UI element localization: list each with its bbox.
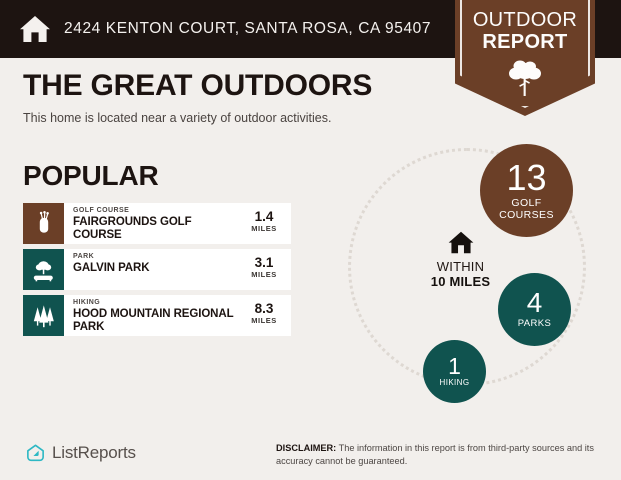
listreports-logo[interactable]: ListReports	[24, 442, 136, 464]
disclaimer: DISCLAIMER: The information in this repo…	[276, 442, 606, 469]
title-block: THE GREAT OUTDOORS This home is located …	[23, 70, 443, 125]
pine-trees-icon	[23, 295, 64, 336]
page-title: THE GREAT OUTDOORS	[23, 70, 443, 102]
distance-value: 3.1	[237, 256, 291, 270]
radius-label: 10 MILES	[408, 275, 513, 290]
park-tree-bench-icon	[23, 249, 64, 290]
parks-label: PARKS	[518, 319, 552, 330]
stat-bubble-hiking: 1 HIKING	[423, 340, 486, 403]
popular-heading: POPULAR	[23, 160, 159, 192]
parks-count: 4	[527, 289, 543, 317]
tree-icon	[455, 58, 595, 98]
distance-unit: MILES	[237, 316, 291, 325]
distance-value: 8.3	[237, 302, 291, 316]
property-address: 2424 KENTON COURT, SANTA ROSA, CA 95407	[64, 20, 431, 38]
diagram-center-label: WITHIN 10 MILES	[408, 230, 513, 290]
badge-title-line1: OUTDOOR	[455, 10, 595, 32]
outdoor-report-badge: OUTDOOR REPORT	[455, 0, 595, 116]
list-item-name: FAIRGROUNDS GOLF COURSE	[73, 216, 237, 242]
outdoor-report-page: 2424 KENTON COURT, SANTA ROSA, CA 95407 …	[0, 0, 621, 480]
distance-unit: MILES	[237, 224, 291, 233]
badge-title-line2: REPORT	[455, 32, 595, 54]
distance-value: 1.4	[237, 210, 291, 224]
list-item[interactable]: PARK GALVIN PARK 3.1 MILES	[23, 249, 291, 290]
list-item[interactable]: HIKING HOOD MOUNTAIN REGIONAL PARK 8.3 M…	[23, 295, 291, 336]
golf-bag-icon	[23, 203, 64, 244]
home-icon	[408, 230, 513, 255]
list-item-distance: 1.4 MILES	[237, 203, 291, 244]
list-item-text: HIKING HOOD MOUNTAIN REGIONAL PARK	[64, 295, 237, 336]
hiking-count: 1	[448, 355, 461, 378]
listreports-logo-text: ListReports	[52, 443, 136, 463]
list-item-distance: 8.3 MILES	[237, 295, 291, 336]
golf-courses-count: 13	[506, 160, 546, 196]
stat-bubble-golf-courses: 13 GOLF COURSES	[480, 144, 573, 237]
badge-title: OUTDOOR REPORT	[455, 10, 595, 53]
listreports-pin-icon	[24, 442, 46, 464]
list-item-name: HOOD MOUNTAIN REGIONAL PARK	[73, 308, 237, 334]
golf-courses-label: GOLF COURSES	[499, 198, 554, 222]
list-item-text: GOLF COURSE FAIRGROUNDS GOLF COURSE	[64, 203, 237, 244]
list-item-category: PARK	[73, 253, 237, 261]
outdoor-summary-diagram: 13 GOLF COURSES 4 PARKS 1 HIKING WITHIN …	[330, 135, 621, 425]
golf-courses-label-line2: COURSES	[499, 209, 554, 221]
list-item-category: HIKING	[73, 299, 237, 307]
home-icon	[16, 12, 54, 46]
list-item-distance: 3.1 MILES	[237, 249, 291, 290]
list-item[interactable]: GOLF COURSE FAIRGROUNDS GOLF COURSE 1.4 …	[23, 203, 291, 244]
distance-unit: MILES	[237, 270, 291, 279]
page-subtitle: This home is located near a variety of o…	[23, 111, 443, 125]
list-item-name: GALVIN PARK	[73, 262, 237, 275]
within-label: WITHIN	[408, 260, 513, 275]
golf-courses-label-line1: GOLF	[511, 197, 541, 209]
watermark	[567, 458, 615, 476]
hiking-label: HIKING	[440, 379, 470, 388]
popular-list: GOLF COURSE FAIRGROUNDS GOLF COURSE 1.4 …	[23, 203, 291, 341]
list-item-text: PARK GALVIN PARK	[64, 249, 237, 290]
list-item-category: GOLF COURSE	[73, 207, 237, 215]
disclaimer-label: DISCLAIMER:	[276, 443, 336, 453]
